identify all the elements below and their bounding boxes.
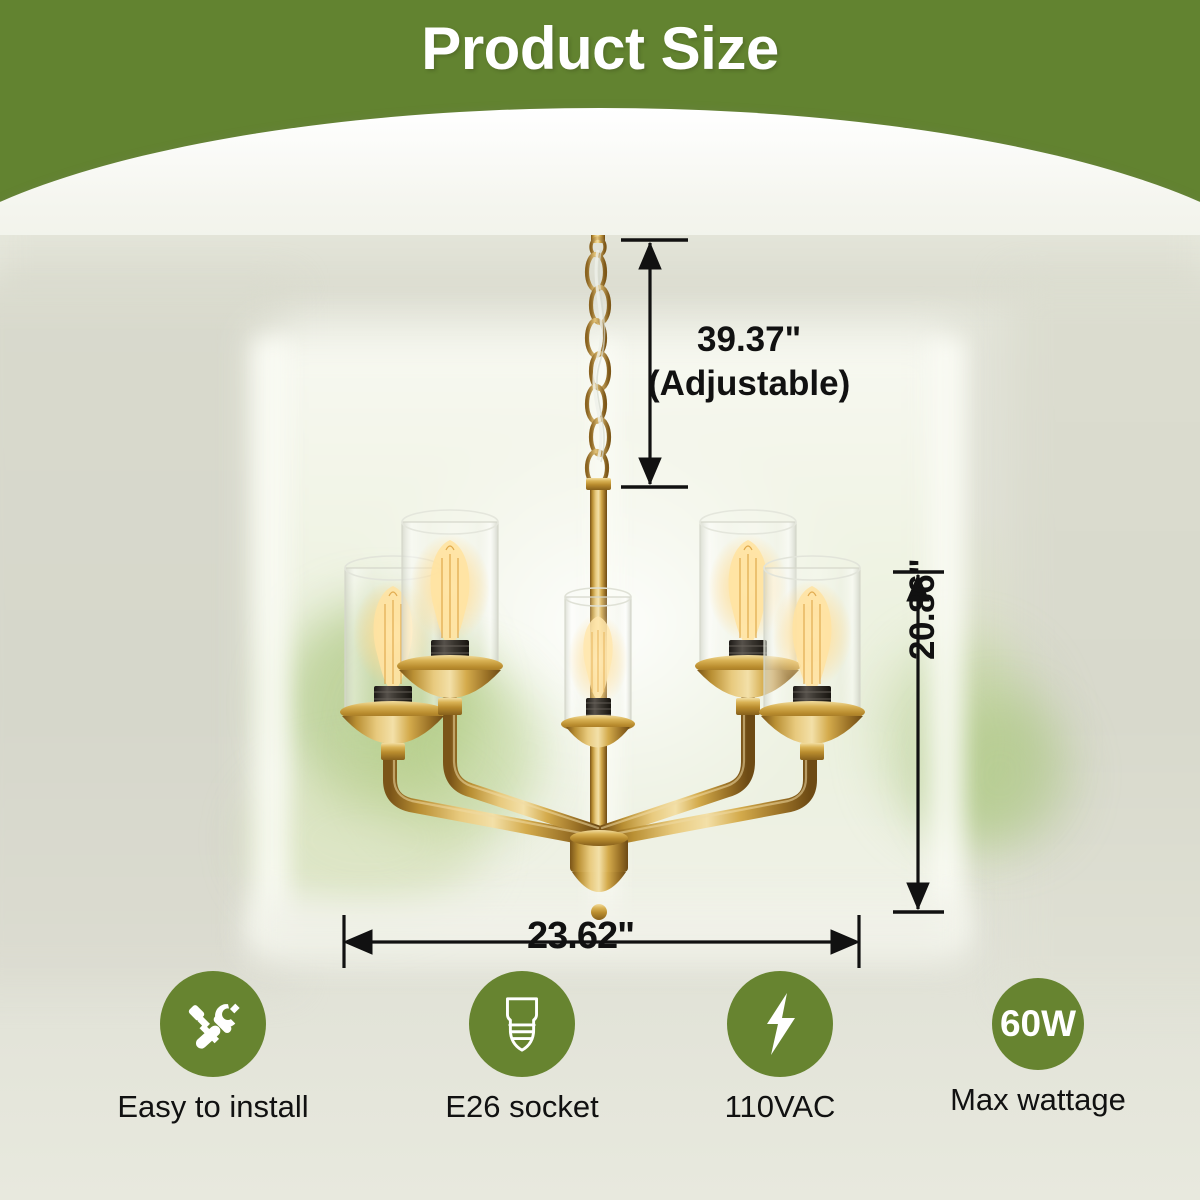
background-wall-left xyxy=(0,285,290,985)
header-banner: Product Size xyxy=(0,0,1200,235)
window-mullion xyxy=(255,340,289,940)
wattage-badge-text: 60W xyxy=(1000,1003,1076,1045)
tools-icon-circle xyxy=(160,971,266,1077)
product-size-infographic: 6.29" 39.37" (Adjustable) 20.86" 23.62" … xyxy=(0,0,1200,1200)
lightning-bolt-icon-circle xyxy=(727,971,833,1077)
wattage-badge-icon-circle: 60W xyxy=(992,978,1084,1070)
feature-row: Easy to install E26 socket xyxy=(0,965,1200,1150)
lightning-bolt-icon xyxy=(758,991,802,1057)
dimension-label-fixture-height: 20.86" xyxy=(903,559,943,660)
feature-e26-socket: E26 socket xyxy=(392,965,652,1125)
window-mullion xyxy=(592,340,618,940)
feature-label: 110VAC xyxy=(650,1089,910,1125)
feature-label: Max wattage xyxy=(908,1082,1168,1118)
dimension-label-chain-drop: 39.37" (Adjustable) xyxy=(648,318,850,406)
dimension-label-fixture-width: 23.62" xyxy=(527,915,634,958)
dimension-label-chain-drop-note: (Adjustable) xyxy=(648,362,850,406)
background-wall-right xyxy=(1010,280,1200,1000)
feature-max-wattage: 60W Max wattage xyxy=(908,965,1168,1118)
page-title: Product Size xyxy=(0,14,1200,83)
feature-easy-to-install: Easy to install xyxy=(83,965,343,1125)
dimension-label-chain-drop-value: 39.37" xyxy=(648,318,850,362)
tools-icon xyxy=(182,993,244,1055)
feature-label: E26 socket xyxy=(392,1089,652,1125)
bulb-socket-icon xyxy=(494,993,550,1055)
feature-110vac: 110VAC xyxy=(650,965,910,1125)
bulb-socket-icon-circle xyxy=(469,971,575,1077)
feature-label: Easy to install xyxy=(83,1089,343,1125)
